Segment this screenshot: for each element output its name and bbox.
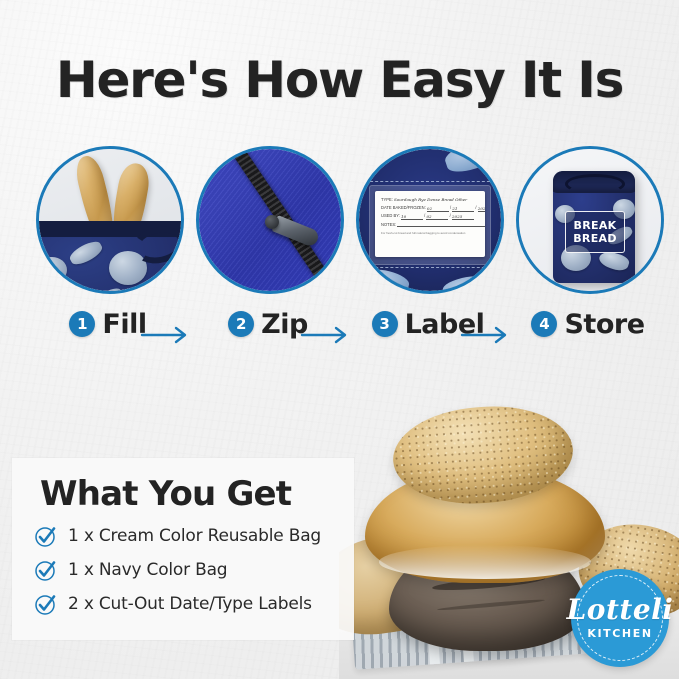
step-1-photo-circle bbox=[36, 146, 184, 294]
label-usedby-dd: 02 bbox=[426, 213, 448, 220]
step-4-store: BREAK BREAD 4 Store bbox=[508, 142, 668, 357]
label-baked-mm: 02 bbox=[427, 205, 449, 212]
label-baked-dd: 21 bbox=[452, 205, 474, 212]
label-baked-yy: 2025 bbox=[478, 205, 485, 212]
step-3-photo-circle: TYPE: Sourdough Rye Dense Bread Other DA… bbox=[356, 146, 504, 294]
step-4-number: 4 bbox=[531, 311, 557, 337]
rolled-bread-bag-graphic: BREAK BREAD bbox=[553, 171, 635, 283]
list-item: 2 x Cut-Out Date/Type Labels bbox=[34, 592, 354, 616]
product-infographic: Here's How Easy It Is bbox=[0, 0, 679, 679]
label-usedby-mm: 10 bbox=[401, 213, 423, 220]
list-item-label: 2 x Cut-Out Date/Type Labels bbox=[68, 594, 312, 614]
list-item: 1 x Navy Color Bag bbox=[34, 558, 354, 582]
logo-tagline: KITCHEN bbox=[587, 627, 652, 640]
label-notes-field: NOTES: bbox=[381, 222, 396, 227]
lotteli-kitchen-logo: Lotteli KITCHEN bbox=[571, 569, 669, 667]
step-2-photo-circle bbox=[196, 146, 344, 294]
logo-brand-name: Lotteli bbox=[567, 596, 674, 624]
step-2-number: 2 bbox=[228, 311, 254, 337]
label-type-options: Sourdough Rye Dense Bread Other bbox=[394, 197, 467, 202]
label-footnote: For fresh-cut bread and full natural bag… bbox=[381, 231, 479, 235]
date-label-card: TYPE: Sourdough Rye Dense Bread Other DA… bbox=[375, 191, 485, 257]
page-title: Here's How Easy It Is bbox=[0, 52, 679, 108]
plate-line-2: BREAD bbox=[573, 232, 617, 245]
panel-title: What You Get bbox=[40, 474, 354, 514]
right-arrow-icon bbox=[140, 324, 196, 346]
list-item-label: 1 x Navy Color Bag bbox=[68, 560, 227, 580]
list-item: 1 x Cream Color Reusable Bag bbox=[34, 524, 354, 548]
plate-line-1: BREAK bbox=[574, 219, 617, 232]
step-3-number: 3 bbox=[372, 311, 398, 337]
right-arrow-icon bbox=[300, 324, 356, 346]
step-4-photo-circle: BREAK BREAD bbox=[516, 146, 664, 294]
label-usedby-yy: 2025 bbox=[452, 213, 474, 220]
step-1-number: 1 bbox=[69, 311, 95, 337]
steps-row: 1 Fill 2 Zip bbox=[0, 142, 679, 357]
check-circle-icon bbox=[34, 524, 58, 548]
step-4-label: Store bbox=[564, 309, 644, 340]
zipper-slider-icon bbox=[265, 215, 279, 229]
check-circle-icon bbox=[34, 592, 58, 616]
break-bread-plate: BREAK BREAD bbox=[565, 211, 625, 253]
right-arrow-icon bbox=[460, 324, 516, 346]
list-item-label: 1 x Cream Color Reusable Bag bbox=[68, 526, 321, 546]
step-4-caption: 4 Store bbox=[508, 302, 668, 346]
label-type-field: TYPE: bbox=[381, 197, 393, 202]
label-baked-field: DATE BAKED/FROZEN: bbox=[381, 205, 426, 210]
label-usedby-field: USED BY: bbox=[381, 213, 400, 218]
what-you-get-panel: What You Get 1 x Cream Color Reusable Ba… bbox=[12, 458, 354, 640]
check-circle-icon bbox=[34, 558, 58, 582]
